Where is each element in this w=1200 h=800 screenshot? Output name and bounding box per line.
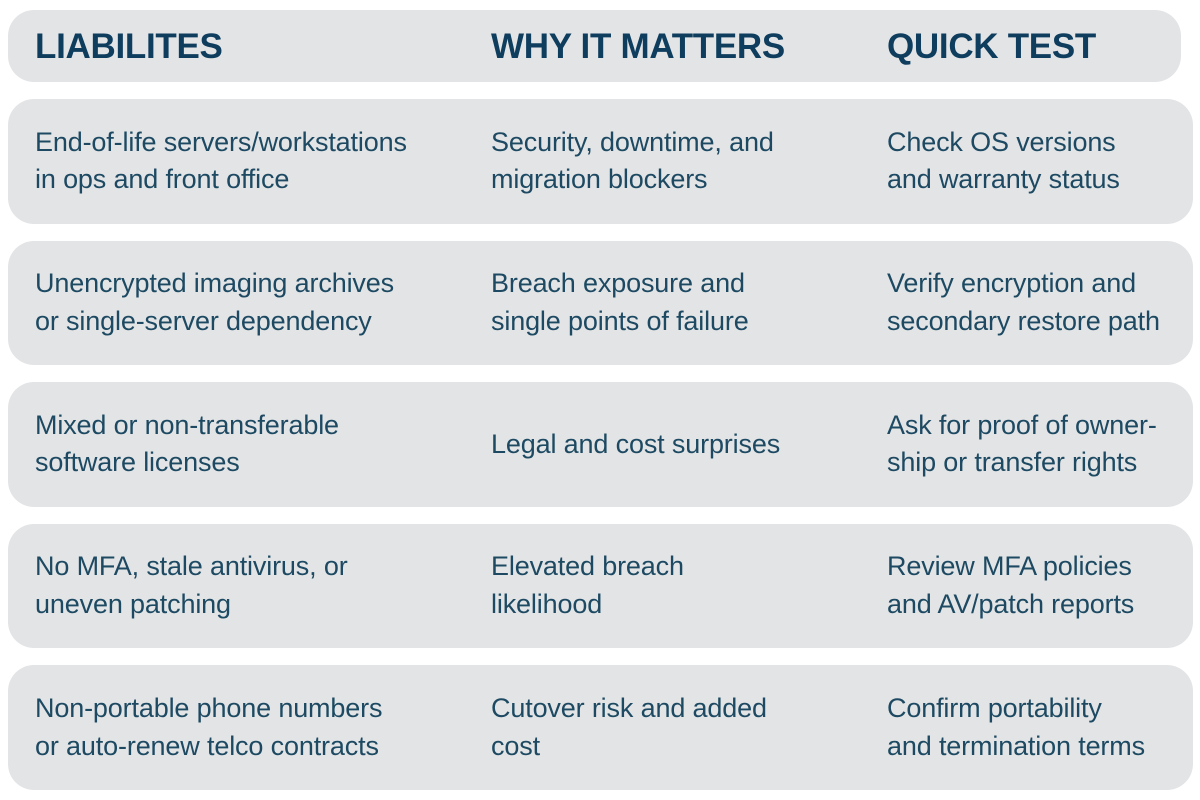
cell-line: software licenses [35,444,478,482]
cell-quick-test: Confirm portability and termination term… [856,690,1193,766]
cell-line: Non-portable phone numbers [35,690,478,728]
cell-line: ship or transfer rights [887,444,1185,482]
cell-line: Legal and cost surprises [491,426,846,464]
cell-line: Review MFA policies [887,548,1185,586]
cell-quick-test: Check OS versions and warranty status [856,124,1193,200]
liabilities-table: LIABILITES WHY IT MATTERS QUICK TEST End… [0,0,1200,800]
cell-line: Mixed or non-transferable [35,407,478,445]
cell-line: Cutover risk and added [491,690,846,728]
table-body: End-of-life servers/workstations in ops … [8,99,1195,790]
table-header-row: LIABILITES WHY IT MATTERS QUICK TEST [8,10,1181,82]
cell-line: likelihood [491,586,846,624]
cell-line: Unencrypted imaging archives [35,265,478,303]
cell-line: or single-server dependency [35,303,478,341]
cell-liability: End-of-life servers/workstations in ops … [8,124,482,200]
cell-why-it-matters: Breach exposure and single points of fai… [482,265,856,341]
cell-line: in ops and front office [35,161,478,199]
cell-why-it-matters: Security, downtime, and migration blocke… [482,124,856,200]
column-header-why-it-matters: WHY IT MATTERS [482,29,856,64]
table-row: Mixed or non-transferable software licen… [8,382,1193,507]
cell-line: Elevated breach [491,548,846,586]
cell-line: Security, downtime, and [491,124,846,162]
cell-quick-test: Ask for proof of owner- ship or transfer… [856,407,1193,483]
cell-line: Check OS versions [887,124,1185,162]
cell-line: and AV/patch reports [887,586,1185,624]
cell-line: and termination terms [887,728,1185,766]
cell-quick-test: Review MFA policies and AV/patch reports [856,548,1193,624]
cell-why-it-matters: Legal and cost surprises [482,426,856,464]
table-row: End-of-life servers/workstations in ops … [8,99,1193,224]
cell-line: Breach exposure and [491,265,846,303]
cell-line: End-of-life servers/workstations [35,124,478,162]
cell-line: secondary restore path [887,303,1185,341]
cell-line: No MFA, stale antivirus, or [35,548,478,586]
table-row: Non-portable phone numbers or auto-renew… [8,665,1193,790]
cell-liability: Non-portable phone numbers or auto-renew… [8,690,482,766]
cell-line: Verify encryption and [887,265,1185,303]
column-header-quick-test: QUICK TEST [856,29,1181,64]
cell-line: cost [491,728,846,766]
cell-line: Ask for proof of owner- [887,407,1185,445]
cell-line: Confirm portability [887,690,1185,728]
cell-line: or auto-renew telco contracts [35,728,478,766]
cell-liability: Mixed or non-transferable software licen… [8,407,482,483]
cell-why-it-matters: Cutover risk and added cost [482,690,856,766]
column-header-liabilities: LIABILITES [8,29,482,64]
cell-line: uneven patching [35,586,478,624]
cell-line: migration blockers [491,161,846,199]
table-row: Unencrypted imaging archives or single-s… [8,241,1193,366]
cell-liability: Unencrypted imaging archives or single-s… [8,265,482,341]
cell-why-it-matters: Elevated breach likelihood [482,548,856,624]
cell-liability: No MFA, stale antivirus, or uneven patch… [8,548,482,624]
cell-quick-test: Verify encryption and secondary restore … [856,265,1193,341]
cell-line: single points of failure [491,303,846,341]
cell-line: and warranty status [887,161,1185,199]
table-row: No MFA, stale antivirus, or uneven patch… [8,524,1193,649]
